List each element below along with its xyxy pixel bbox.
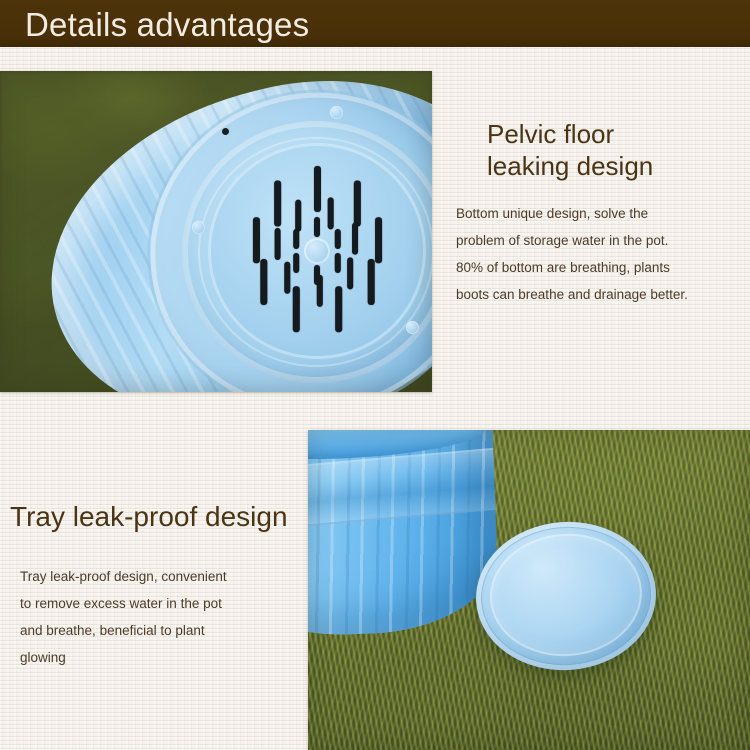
tray-on-grass-photo (308, 430, 750, 750)
page-title: Details advantages (25, 5, 309, 45)
section-copy-tray-leak-proof: Tray leak-proof design, convenient to re… (20, 563, 292, 671)
section-heading-pelvic-floor: Pelvic floor leaking design (487, 118, 737, 182)
pin-hole (222, 128, 229, 135)
moulded-nub (192, 221, 205, 234)
copy-line: glowing (20, 644, 292, 671)
pot-base-plate (182, 121, 432, 383)
moulded-nub (330, 106, 343, 119)
copy-line: boots can breathe and drainage better. (456, 281, 750, 308)
copy-line: to remove excess water in the pot (20, 590, 292, 617)
copy-line: Tray leak-proof design, convenient (20, 563, 292, 590)
header-bar: Details advantages (0, 0, 750, 47)
copy-line: and breathe, beneficial to plant (20, 617, 292, 644)
copy-line: Bottom unique design, solve the (456, 200, 750, 227)
moulded-nub (406, 321, 419, 334)
section-copy-pelvic-floor: Bottom unique design, solve the problem … (456, 200, 750, 308)
copy-line: problem of storage water in the pot. (456, 227, 750, 254)
center-boss (304, 238, 330, 264)
drain-grate (208, 143, 426, 359)
pot-bottom-drain-photo (0, 71, 432, 392)
section-heading-tray-leak-proof: Tray leak-proof design (10, 500, 310, 534)
barrel-pot (308, 430, 500, 639)
copy-line: 80% of bottom are breathing, plants (456, 254, 750, 281)
